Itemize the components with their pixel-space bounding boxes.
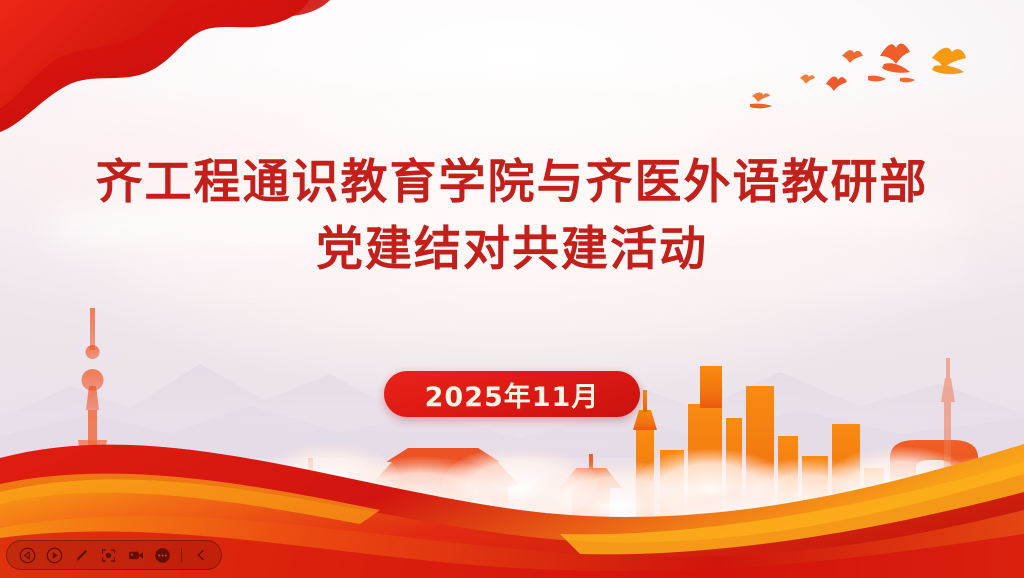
next-slide-icon (46, 547, 63, 564)
laser-pointer-icon (100, 547, 117, 564)
chevron-left-icon (193, 547, 209, 563)
slide-title-line-1: 齐工程通识教育学院与齐医外语教研部 (0, 150, 1024, 217)
presentation-slide: 齐工程通识教育学院与齐医外语教研部 党建结对共建活动 2025年11月 (0, 0, 1024, 578)
date-badge: 2025年11月 (384, 371, 640, 417)
toolbar-divider (181, 548, 182, 562)
more-options-icon (154, 547, 171, 564)
slide-title-block: 齐工程通识教育学院与齐医外语教研部 党建结对共建活动 (0, 150, 1024, 283)
slide-title-line-2: 党建结对共建活动 (0, 217, 1024, 284)
video-camera-icon (127, 546, 145, 564)
previous-slide-icon (19, 547, 36, 564)
next-slide-button[interactable] (41, 542, 68, 568)
pen-annotation-button[interactable] (68, 542, 95, 568)
pen-icon (73, 547, 90, 564)
date-badge-label: 2025年11月 (425, 375, 600, 414)
previous-slide-button[interactable] (14, 542, 41, 568)
more-options-button[interactable] (149, 542, 176, 568)
slide-content: 齐工程通识教育学院与齐医外语教研部 党建结对共建活动 2025年11月 (0, 0, 1024, 578)
video-recording-button[interactable] (122, 542, 149, 568)
collapse-toolbar-button[interactable] (187, 542, 214, 568)
laser-pointer-button[interactable] (95, 542, 122, 568)
presenter-toolbar[interactable] (6, 540, 222, 570)
